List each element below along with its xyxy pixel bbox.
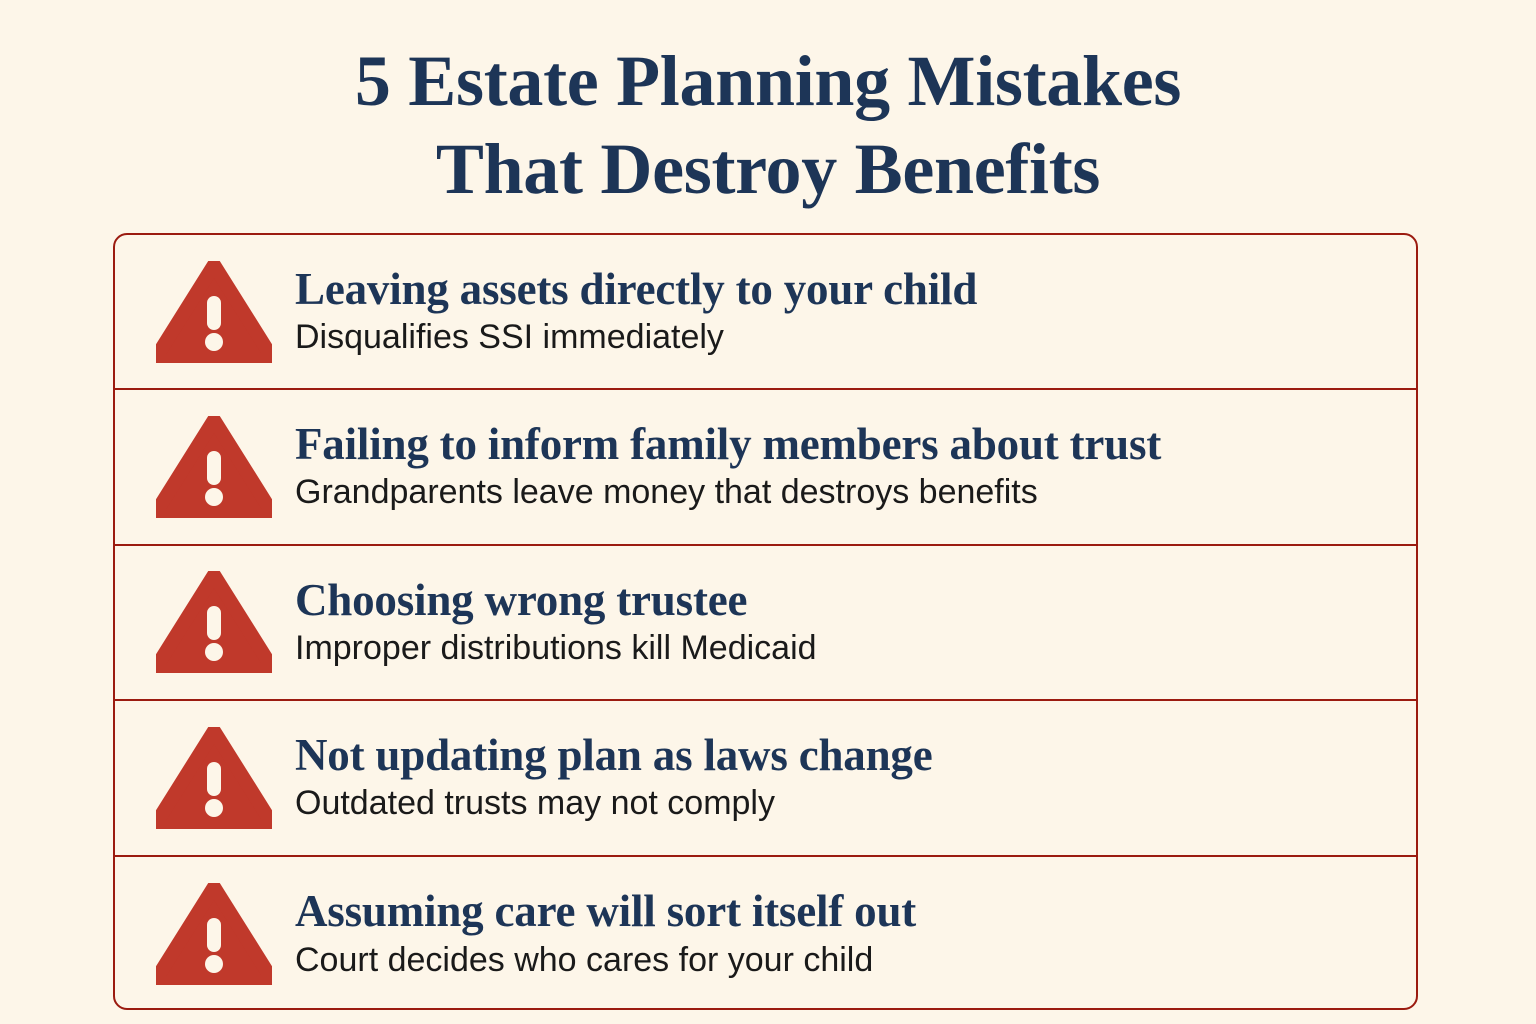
list-item-subtitle: Improper distributions kill Medicaid: [295, 628, 1416, 669]
list-item-title: Leaving assets directly to your child: [295, 265, 1416, 313]
list-item-icon-cell: [149, 416, 279, 518]
list-item: Leaving assets directly to your child Di…: [115, 235, 1416, 390]
warning-triangle-icon: [156, 571, 272, 673]
list-item-subtitle: Court decides who cares for your child: [295, 940, 1416, 981]
page-title-line-1: 5 Estate Planning Mistakes: [0, 38, 1536, 126]
list-item: Assuming care will sort itself out Court…: [115, 857, 1416, 1010]
list-item-icon-cell: [149, 261, 279, 363]
list-item: Not updating plan as laws change Outdate…: [115, 701, 1416, 856]
list-item-title: Failing to inform family members about t…: [295, 420, 1416, 468]
list-item-text: Not updating plan as laws change Outdate…: [279, 731, 1416, 825]
list-item-text: Assuming care will sort itself out Court…: [279, 887, 1416, 981]
list-item-icon-cell: [149, 883, 279, 985]
list-item-icon-cell: [149, 571, 279, 673]
list-item: Choosing wrong trustee Improper distribu…: [115, 546, 1416, 701]
list-item-text: Leaving assets directly to your child Di…: [279, 265, 1416, 359]
list-item-icon-cell: [149, 727, 279, 829]
list-item: Failing to inform family members about t…: [115, 390, 1416, 545]
list-item-title: Not updating plan as laws change: [295, 731, 1416, 779]
mistakes-list-card: Leaving assets directly to your child Di…: [113, 233, 1418, 1010]
list-item-text: Failing to inform family members about t…: [279, 420, 1416, 514]
list-item-subtitle: Outdated trusts may not comply: [295, 783, 1416, 824]
warning-triangle-icon: [156, 261, 272, 363]
page-title: 5 Estate Planning Mistakes That Destroy …: [0, 38, 1536, 214]
page-title-line-2: That Destroy Benefits: [0, 126, 1536, 214]
warning-triangle-icon: [156, 883, 272, 985]
warning-triangle-icon: [156, 416, 272, 518]
list-item-text: Choosing wrong trustee Improper distribu…: [279, 576, 1416, 670]
list-item-title: Choosing wrong trustee: [295, 576, 1416, 624]
list-item-subtitle: Disqualifies SSI immediately: [295, 317, 1416, 358]
list-item-title: Assuming care will sort itself out: [295, 887, 1416, 935]
infographic-poster: 5 Estate Planning Mistakes That Destroy …: [0, 0, 1536, 1024]
list-item-subtitle: Grandparents leave money that destroys b…: [295, 472, 1416, 513]
warning-triangle-icon: [156, 727, 272, 829]
